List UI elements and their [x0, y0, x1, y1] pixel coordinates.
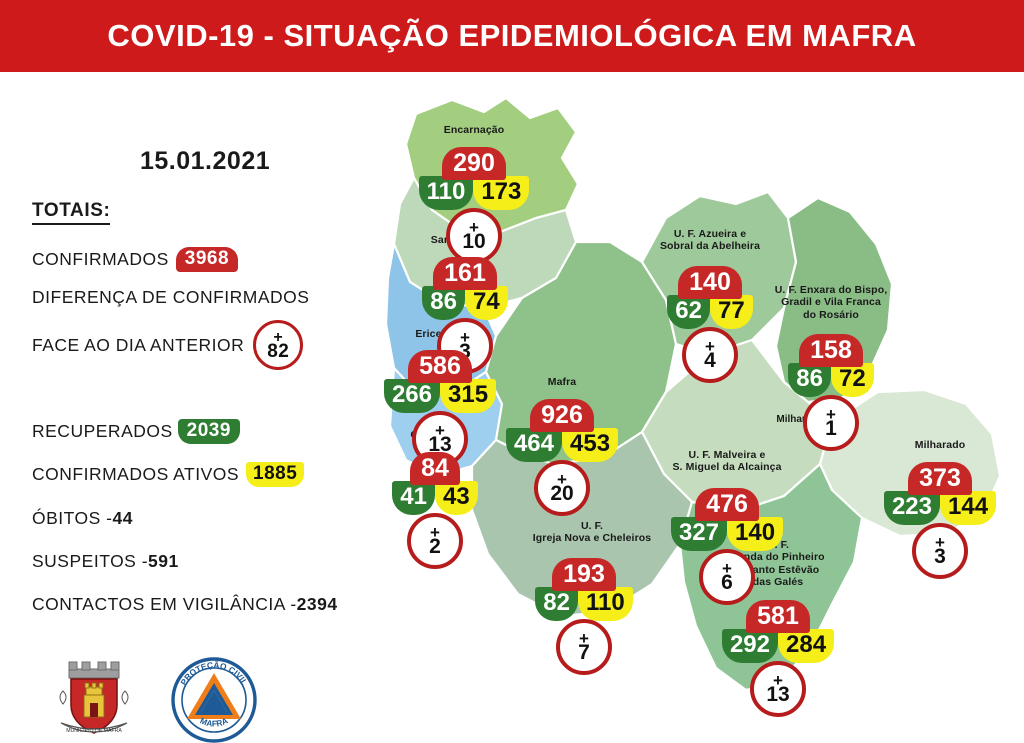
badge-recovered-venda-pinheiro: 292	[722, 629, 778, 663]
badge-total-igreja-nova: 193	[552, 558, 616, 591]
stat-diferenca-value-badge: + 82	[253, 320, 303, 370]
badge-delta-value-azueira-sobral: 4	[704, 353, 716, 370]
stat-contactos-vigilancia: CONTACTOS EM VIGILÂNCIA - 2394	[32, 594, 338, 615]
badge-delta-value-venda-pinheiro: 13	[766, 687, 789, 704]
badge-delta-carvoeira: + 2	[407, 513, 463, 569]
badge-delta-value-enxara: 1	[825, 421, 837, 438]
badge-active-carvoeira: 43	[435, 481, 478, 515]
badge-recovered-milharado: 223	[884, 491, 940, 525]
badge-delta-value-encarnacao: 10	[462, 234, 485, 251]
stat-confirmados-ativos-value: 1885	[246, 462, 304, 487]
badge-total-carvoeira: 84	[410, 452, 460, 485]
badge-recovered-enxara: 86	[788, 363, 831, 397]
report-date: 15.01.2021	[140, 147, 270, 176]
badge-recovered-ericeira: 266	[384, 379, 440, 413]
badge-active-igreja-nova: 110	[578, 587, 633, 621]
stat-suspeitos-label: SUSPEITOS -	[32, 551, 148, 572]
badge-recovered-carvoeira: 41	[392, 481, 435, 515]
badge-delta-mafra: + 20	[534, 460, 590, 516]
badge-total-venda-pinheiro: 581	[746, 600, 810, 633]
stat-confirmados-ativos: CONFIRMADOS ATIVOS 1885	[32, 462, 304, 487]
badge-total-mafra: 926	[530, 399, 594, 432]
stat-recuperados-value: 2039	[178, 419, 240, 444]
mafra-municipality-map: Milharado Encarnação Santo Isidoro Erice…	[380, 92, 1024, 708]
badge-delta-azueira-sobral: + 4	[682, 327, 738, 383]
badge-total-santo-isidoro: 161	[433, 257, 497, 290]
stat-confirmados: CONFIRMADOS 3968	[32, 247, 238, 272]
footer-logos: MUNICÍPIO DE MAFRA PROTEÇÃO CIVIL MAFRA	[55, 657, 257, 743]
statistics-sidebar: 15.01.2021 TOTAIS: CONFIRMADOS 3968 DIFE…	[0, 72, 400, 708]
stat-suspeitos: SUSPEITOS - 591	[32, 551, 179, 572]
badge-recovered-igreja-nova: 82	[535, 587, 578, 621]
badge-delta-encarnacao: + 10	[446, 208, 502, 264]
municipio-de-mafra-logo: MUNICÍPIO DE MAFRA	[55, 657, 133, 743]
badge-active-milharado: 144	[940, 491, 996, 525]
badge-delta-malveira: + 6	[699, 549, 755, 605]
stat-diferenca-line1: DIFERENÇA DE CONFIRMADOS	[32, 287, 309, 308]
badge-active-ericeira: 315	[440, 379, 496, 413]
badge-recovered-encarnacao: 110	[419, 176, 474, 210]
stat-diferenca-line2: FACE AO DIA ANTERIOR + 82	[32, 320, 303, 370]
stat-suspeitos-value: 591	[148, 551, 179, 572]
stat-contactos-value: 2394	[297, 594, 338, 615]
stat-recuperados: RECUPERADOS 2039	[32, 419, 240, 444]
stat-confirmados-value: 3968	[176, 247, 238, 272]
badge-active-mafra: 453	[562, 428, 618, 462]
badge-active-enxara: 72	[831, 363, 874, 397]
badge-total-enxara: 158	[799, 334, 863, 367]
badge-active-venda-pinheiro: 284	[778, 629, 834, 663]
badge-recovered-mafra: 464	[506, 428, 562, 462]
badge-delta-value-igreja-nova: 7	[578, 645, 590, 662]
stat-obitos-value: 44	[113, 508, 133, 529]
badge-delta-igreja-nova: + 7	[556, 619, 612, 675]
badge-delta-value-milharado: 3	[934, 549, 946, 566]
badge-recovered-azueira-sobral: 62	[667, 295, 710, 329]
stat-diferenca-label2: FACE AO DIA ANTERIOR	[32, 335, 244, 356]
badge-active-azueira-sobral: 77	[710, 295, 753, 329]
badge-delta-value-carvoeira: 2	[429, 539, 441, 556]
badge-recovered-malveira: 327	[671, 517, 727, 551]
badge-total-azueira-sobral: 140	[678, 266, 742, 299]
badge-active-malveira: 140	[727, 517, 783, 551]
page-title: COVID-19 - SITUAÇÃO EPIDEMIOLÓGICA EM MA…	[107, 18, 916, 54]
stat-obitos: ÓBITOS - 44	[32, 508, 133, 529]
stat-recuperados-label: RECUPERADOS	[32, 421, 173, 442]
page-header: COVID-19 - SITUAÇÃO EPIDEMIOLÓGICA EM MA…	[0, 0, 1024, 72]
protecao-civil-mafra-logo: PROTEÇÃO CIVIL MAFRA	[171, 657, 257, 743]
badge-delta-value-mafra: 20	[550, 486, 573, 503]
badge-delta-venda-pinheiro: + 13	[750, 661, 806, 717]
municipio-logo-caption: MUNICÍPIO DE MAFRA	[66, 727, 122, 734]
stat-diferenca-value: 82	[267, 344, 289, 360]
badge-active-santo-isidoro: 74	[465, 286, 508, 320]
badge-delta-milharado: + 3	[912, 523, 968, 579]
badge-delta-value-malveira: 6	[721, 575, 733, 592]
stat-diferenca-label: DIFERENÇA DE CONFIRMADOS	[32, 287, 309, 308]
stat-confirmados-ativos-label: CONFIRMADOS ATIVOS	[32, 464, 239, 485]
stat-contactos-label: CONTACTOS EM VIGILÂNCIA -	[32, 594, 297, 615]
totals-heading: TOTAIS:	[32, 200, 110, 225]
badge-total-ericeira: 586	[408, 350, 472, 383]
badge-total-malveira: 476	[695, 488, 759, 521]
stat-obitos-label: ÓBITOS -	[32, 508, 113, 529]
badge-recovered-santo-isidoro: 86	[422, 286, 465, 320]
badge-delta-enxara: + 1	[803, 395, 859, 451]
badge-total-milharado: 373	[908, 462, 972, 495]
badge-total-encarnacao: 290	[442, 147, 506, 180]
stat-confirmados-label: CONFIRMADOS	[32, 249, 169, 270]
badge-active-encarnacao: 173	[473, 176, 529, 210]
